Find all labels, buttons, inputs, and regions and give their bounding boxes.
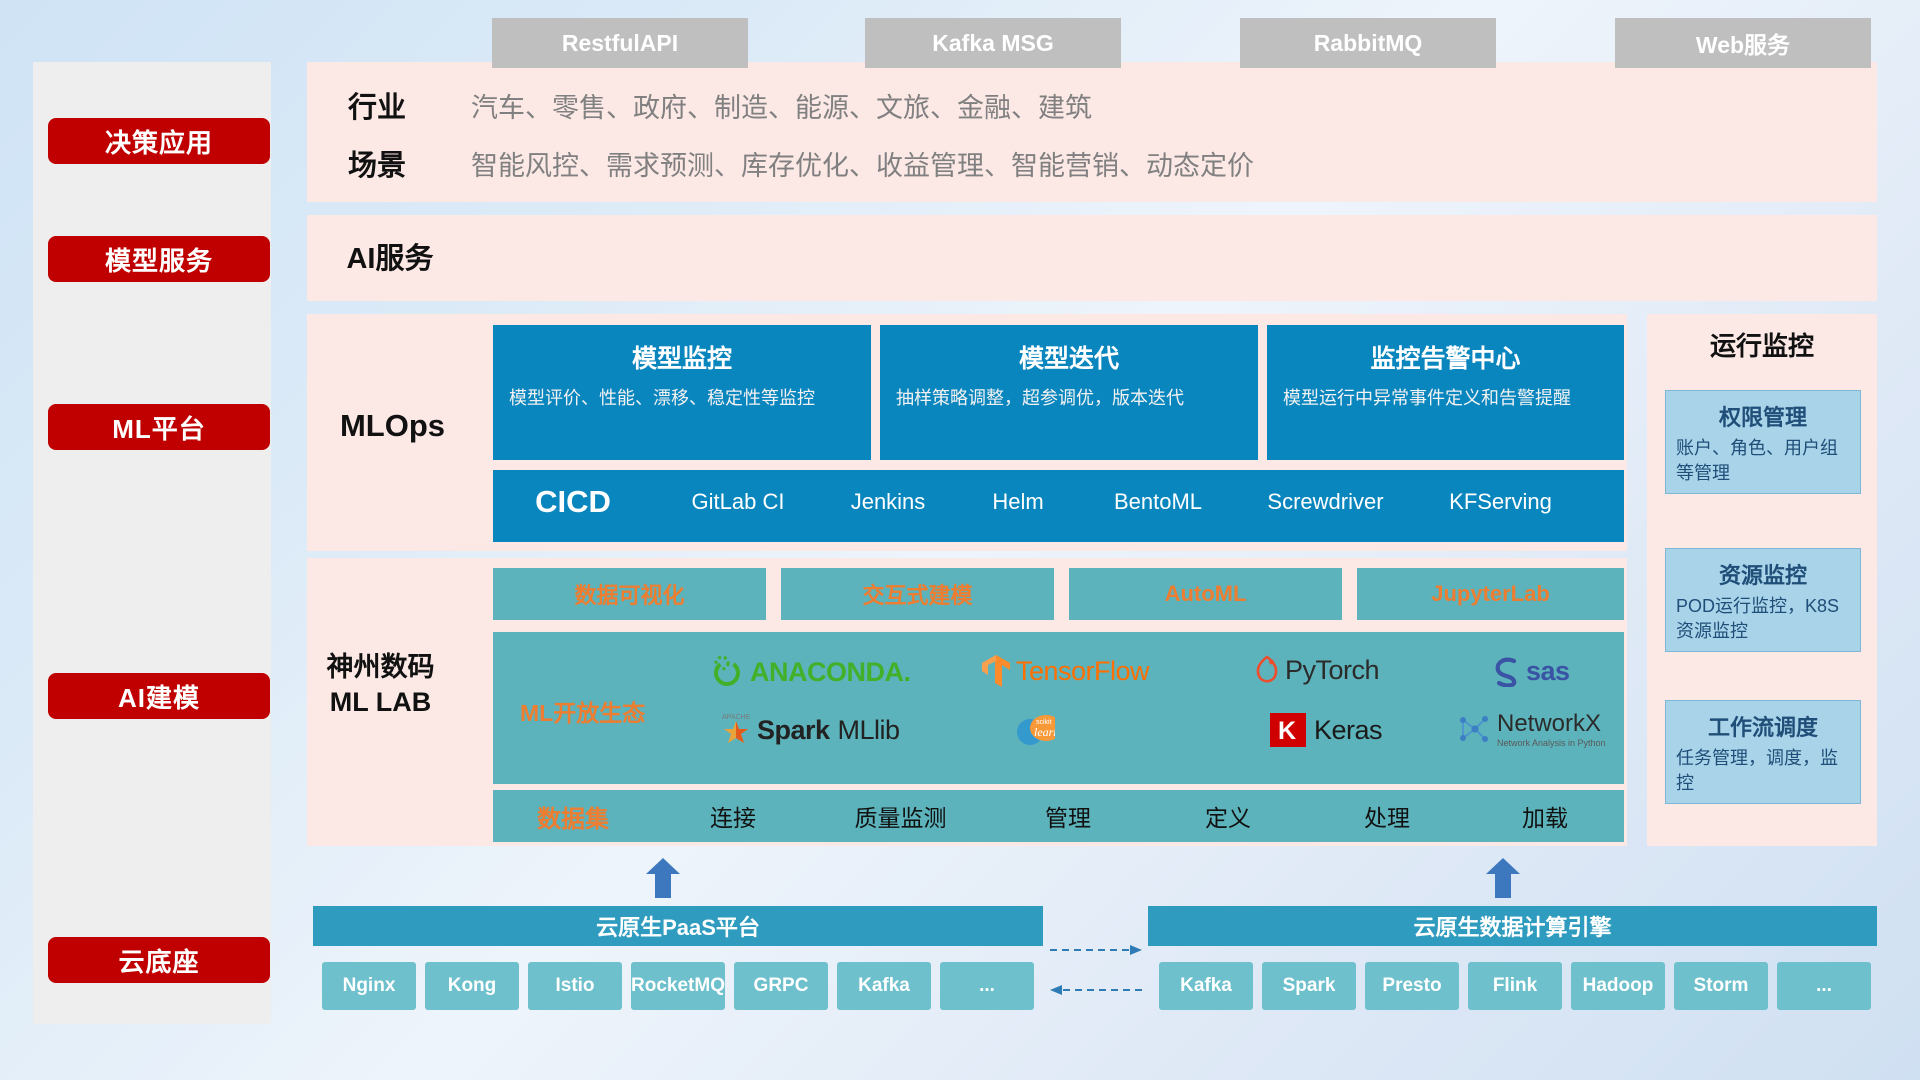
ops-card-title: 监控告警中心 bbox=[1283, 339, 1608, 375]
stage-label: AI建模 bbox=[118, 678, 200, 715]
sas-logo: sas bbox=[1490, 655, 1570, 687]
dataset-item-processing[interactable]: 处理 bbox=[1308, 799, 1466, 833]
svg-text:learn: learn bbox=[1034, 725, 1055, 739]
pytorch-logo: PyTorch bbox=[1253, 653, 1379, 687]
stage-label: ML平台 bbox=[112, 409, 206, 446]
networkx-logo: NetworkX Network Analysis in Python bbox=[1455, 710, 1606, 748]
ml-ecosystem-label: ML开放生态 bbox=[520, 694, 645, 728]
sas-icon bbox=[1490, 655, 1524, 687]
cicd-bar: CICD GitLab CI Jenkins Helm BentoML Scre… bbox=[493, 470, 1624, 542]
ai-chip-kafka-msg[interactable]: Kafka MSG bbox=[865, 18, 1121, 68]
dataset-item-management[interactable]: 管理 bbox=[988, 799, 1148, 833]
stage-chip-ai-modeling[interactable]: AI建模 bbox=[48, 673, 270, 719]
scikit-learn-logo: scikit learn scikit-learn bbox=[1015, 712, 1055, 748]
monitor-card-title: 工作流调度 bbox=[1666, 701, 1860, 746]
paas-platform-title: 云原生PaaS平台 bbox=[596, 910, 760, 942]
svg-text:APACHE: APACHE bbox=[722, 714, 751, 721]
cloud-chip-more-engine[interactable]: ... bbox=[1777, 962, 1871, 1010]
monitor-card-desc: 账户、角色、用户组等管理 bbox=[1666, 436, 1860, 496]
networkx-wordmark: NetworkX bbox=[1497, 710, 1606, 738]
chip-label: ... bbox=[1816, 975, 1832, 997]
chip-label: RocketMQ bbox=[631, 975, 725, 997]
data-engine-title: 云原生数据计算引擎 bbox=[1413, 910, 1611, 942]
cicd-item-jenkins[interactable]: Jenkins bbox=[823, 470, 953, 516]
dataset-item-definition[interactable]: 定义 bbox=[1148, 799, 1308, 833]
keras-logo: K Keras bbox=[1268, 710, 1382, 750]
monitor-card-workflow[interactable]: 工作流调度 任务管理，调度，监控 bbox=[1665, 700, 1861, 804]
chip-label: Kafka bbox=[1180, 975, 1232, 997]
spark-mllib-logo: APACHE Spark MLlib bbox=[718, 710, 900, 750]
cicd-item-gitlab-ci[interactable]: GitLab CI bbox=[653, 470, 823, 516]
runtime-monitor-title: 运行监控 bbox=[1647, 326, 1877, 363]
ops-card-model-iteration[interactable]: 模型迭代 抽样策略调整，超参调优，版本迭代 bbox=[880, 325, 1258, 460]
chip-label: 交互式建模 bbox=[862, 578, 972, 610]
upward-arrow-engine-icon bbox=[1484, 858, 1522, 898]
spark-wordmark: Spark bbox=[757, 715, 830, 746]
tool-chip-automl[interactable]: AutoML bbox=[1069, 568, 1342, 620]
monitor-card-permission[interactable]: 权限管理 账户、角色、用户组等管理 bbox=[1665, 390, 1861, 494]
chip-label: RestfulAPI bbox=[562, 30, 678, 57]
stage-chip-model-service[interactable]: 模型服务 bbox=[48, 236, 270, 282]
sas-wordmark: sas bbox=[1526, 656, 1570, 687]
networkx-tagline: Network Analysis in Python bbox=[1497, 738, 1606, 748]
dataset-bar: 数据集 连接 质量监测 管理 定义 处理 加载 bbox=[493, 790, 1624, 842]
stage-label: 云底座 bbox=[118, 942, 199, 979]
chip-label: ... bbox=[979, 975, 995, 997]
cicd-item-helm[interactable]: Helm bbox=[953, 470, 1083, 516]
chip-label: RabbitMQ bbox=[1314, 30, 1423, 57]
pytorch-wordmark: PyTorch bbox=[1285, 655, 1379, 686]
cloud-chip-spark[interactable]: Spark bbox=[1262, 962, 1356, 1010]
tool-chip-data-visualization[interactable]: 数据可视化 bbox=[493, 568, 766, 620]
mllib-wordmark: MLlib bbox=[838, 715, 900, 746]
cloud-chip-flink[interactable]: Flink bbox=[1468, 962, 1562, 1010]
ops-card-desc: 抽样策略调整，超参调优，版本迭代 bbox=[896, 385, 1242, 411]
ml-lab-label-line1: 神州数码 bbox=[318, 650, 443, 685]
spark-icon: APACHE bbox=[718, 710, 754, 750]
chip-label: Storm bbox=[1694, 975, 1749, 997]
cloud-chip-kafka-paas[interactable]: Kafka bbox=[837, 962, 931, 1010]
industry-value: 汽车、零售、政府、制造、能源、文旅、金融、建筑 bbox=[471, 86, 1092, 125]
stage-chip-ml-platform[interactable]: ML平台 bbox=[48, 404, 270, 450]
chip-label: Presto bbox=[1382, 975, 1441, 997]
dataset-item-quality-monitoring[interactable]: 质量监测 bbox=[813, 799, 988, 833]
cicd-heading: CICD bbox=[493, 470, 653, 520]
stage-rail bbox=[33, 62, 271, 1024]
keras-icon: K bbox=[1268, 710, 1308, 750]
ops-card-desc: 模型运行中异常事件定义和告警提醒 bbox=[1283, 385, 1608, 411]
anaconda-wordmark: ANACONDA. bbox=[750, 657, 911, 688]
tensorflow-logo: TensorFlow bbox=[980, 653, 1149, 689]
tensorflow-icon bbox=[980, 653, 1012, 689]
chip-label: Kafka bbox=[858, 975, 910, 997]
chip-label: Hadoop bbox=[1583, 975, 1654, 997]
cloud-chip-grpc[interactable]: GRPC bbox=[734, 962, 828, 1010]
dataset-item-loading[interactable]: 加载 bbox=[1466, 799, 1624, 833]
ml-lab-label: 神州数码 ML LAB bbox=[318, 650, 443, 720]
cloud-chip-rocketmq[interactable]: RocketMQ bbox=[631, 962, 725, 1010]
anaconda-icon bbox=[710, 655, 744, 689]
chip-label: AutoML bbox=[1165, 581, 1247, 607]
scenario-row: 场景 智能风控、需求预测、库存优化、收益管理、智能营销、动态定价 bbox=[307, 138, 1254, 188]
networkx-icon bbox=[1455, 710, 1493, 748]
tool-chip-jupyterlab[interactable]: JupyterLab bbox=[1357, 568, 1624, 620]
dataset-heading: 数据集 bbox=[493, 799, 653, 834]
stage-chip-decision-app[interactable]: 决策应用 bbox=[48, 118, 270, 164]
cloud-chip-kafka-engine[interactable]: Kafka bbox=[1159, 962, 1253, 1010]
chip-label: 数据可视化 bbox=[574, 578, 684, 610]
scikit-learn-icon: scikit learn bbox=[1015, 712, 1055, 748]
cloud-chip-kong[interactable]: Kong bbox=[425, 962, 519, 1010]
cloud-link-arrows bbox=[1048, 938, 1144, 1008]
chip-label: Istio bbox=[555, 975, 594, 997]
svg-text:K: K bbox=[1278, 717, 1296, 745]
monitor-card-resource[interactable]: 资源监控 POD运行监控，K8S资源监控 bbox=[1665, 548, 1861, 652]
tensorflow-wordmark: TensorFlow bbox=[1016, 656, 1149, 687]
chip-label: GRPC bbox=[754, 975, 809, 997]
chip-label: Web服务 bbox=[1696, 26, 1790, 60]
ops-card-desc: 模型评价、性能、漂移、稳定性等监控 bbox=[509, 385, 855, 411]
tool-chip-interactive-modeling[interactable]: 交互式建模 bbox=[781, 568, 1054, 620]
anaconda-logo: ANACONDA. bbox=[710, 655, 911, 689]
chip-label: Kafka MSG bbox=[932, 30, 1053, 57]
upward-arrow-paas-icon bbox=[644, 858, 682, 898]
ops-card-title: 模型迭代 bbox=[896, 339, 1242, 375]
cloud-chip-hadoop[interactable]: Hadoop bbox=[1571, 962, 1665, 1010]
monitor-card-desc: 任务管理，调度，监控 bbox=[1666, 746, 1860, 806]
ai-service-label: AI服务 bbox=[320, 243, 460, 276]
industry-key: 行业 bbox=[307, 84, 447, 126]
cloud-chip-istio[interactable]: Istio bbox=[528, 962, 622, 1010]
cicd-item-bentoml[interactable]: BentoML bbox=[1083, 470, 1233, 516]
ai-chip-restfulapi[interactable]: RestfulAPI bbox=[492, 18, 748, 68]
stage-label: 模型服务 bbox=[105, 241, 213, 278]
cloud-chip-more-paas[interactable]: ... bbox=[940, 962, 1034, 1010]
ai-service-band bbox=[307, 215, 1877, 301]
chip-label: Kong bbox=[448, 975, 497, 997]
ops-card-title: 模型监控 bbox=[509, 339, 855, 375]
scenario-value: 智能风控、需求预测、库存优化、收益管理、智能营销、动态定价 bbox=[471, 144, 1254, 183]
ops-card-model-monitoring[interactable]: 模型监控 模型评价、性能、漂移、稳定性等监控 bbox=[493, 325, 871, 460]
dataset-item-connect[interactable]: 连接 bbox=[653, 799, 813, 833]
chip-label: JupyterLab bbox=[1431, 581, 1550, 607]
chip-label: Nginx bbox=[343, 975, 396, 997]
pytorch-icon bbox=[1253, 653, 1281, 687]
ops-card-alert-center[interactable]: 监控告警中心 模型运行中异常事件定义和告警提醒 bbox=[1267, 325, 1624, 460]
mlops-label: MLOps bbox=[320, 408, 465, 444]
monitor-card-desc: POD运行监控，K8S资源监控 bbox=[1666, 594, 1860, 654]
keras-wordmark: Keras bbox=[1314, 715, 1382, 746]
cloud-chip-nginx[interactable]: Nginx bbox=[322, 962, 416, 1010]
ai-chip-web-service[interactable]: Web服务 bbox=[1615, 18, 1871, 68]
stage-chip-cloud-base[interactable]: 云底座 bbox=[48, 937, 270, 983]
scenario-key: 场景 bbox=[307, 142, 447, 184]
cicd-item-kfserving[interactable]: KFServing bbox=[1418, 470, 1583, 516]
industry-row: 行业 汽车、零售、政府、制造、能源、文旅、金融、建筑 bbox=[307, 80, 1092, 130]
cicd-item-screwdriver[interactable]: Screwdriver bbox=[1233, 470, 1418, 516]
cloud-chip-storm[interactable]: Storm bbox=[1674, 962, 1768, 1010]
chip-label: Spark bbox=[1283, 975, 1336, 997]
monitor-card-title: 权限管理 bbox=[1666, 391, 1860, 436]
paas-platform-bar[interactable]: 云原生PaaS平台 bbox=[313, 906, 1043, 946]
monitor-card-title: 资源监控 bbox=[1666, 549, 1860, 594]
stage-label: 决策应用 bbox=[105, 123, 213, 160]
data-engine-bar[interactable]: 云原生数据计算引擎 bbox=[1148, 906, 1877, 946]
ml-lab-label-line2: ML LAB bbox=[318, 685, 443, 720]
ai-chip-rabbitmq[interactable]: RabbitMQ bbox=[1240, 18, 1496, 68]
cloud-chip-presto[interactable]: Presto bbox=[1365, 962, 1459, 1010]
chip-label: Flink bbox=[1493, 975, 1537, 997]
architecture-diagram: 决策应用 模型服务 ML平台 AI建模 云底座 行业 汽车、零售、政府、制造、能… bbox=[0, 0, 1920, 1080]
